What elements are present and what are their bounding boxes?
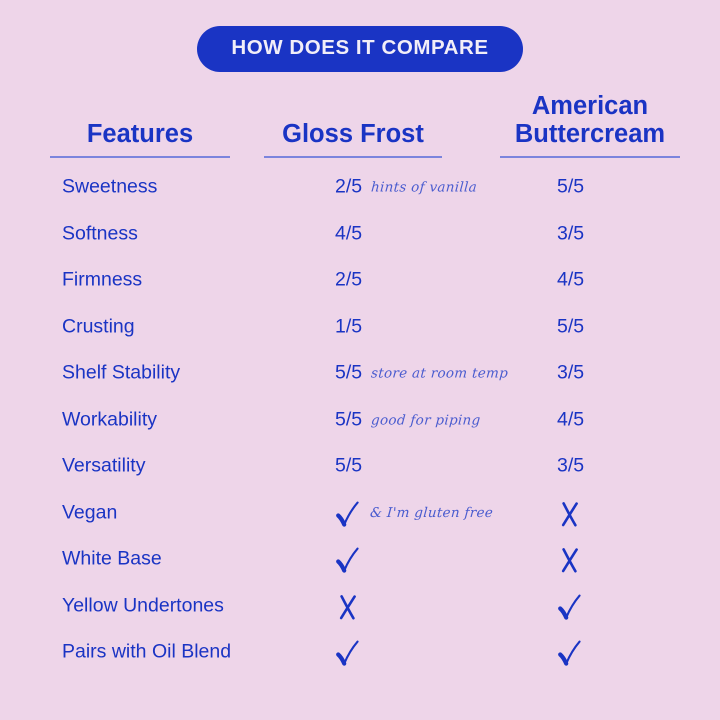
- american-buttercream-rating: 3/5: [557, 362, 584, 384]
- feature-label: Crusting: [62, 317, 135, 337]
- feature-label: Versatility: [62, 457, 145, 477]
- table-row: Crusting1/55/5: [0, 304, 720, 351]
- table-row: Shelf Stability5/5store at room temp3/5: [0, 350, 720, 397]
- gloss-frost-rating: 5/5: [335, 410, 362, 430]
- table-row: Firmness2/54/5: [0, 257, 720, 304]
- american-buttercream-value: [557, 544, 583, 574]
- gloss-frost-value: 5/5: [335, 457, 362, 477]
- column-header-line-2: Buttercream: [515, 120, 665, 148]
- feature-label: Yellow Undertones: [62, 596, 224, 616]
- table-header-row: Features Gloss Frost American Buttercrea…: [0, 78, 720, 158]
- american-buttercream-value: 5/5: [557, 178, 584, 198]
- gloss-frost-rating: 5/5: [335, 457, 362, 477]
- american-buttercream-rating: 4/5: [557, 269, 584, 291]
- table-row: Workability5/5good for piping4/5: [0, 397, 720, 444]
- feature-label: Softness: [62, 224, 138, 244]
- comparison-table: Features Gloss Frost American Buttercrea…: [0, 78, 720, 676]
- cross-icon: [557, 499, 583, 529]
- american-buttercream-rating: 5/5: [557, 315, 584, 337]
- table-body: Sweetness2/5hints of vanilla5/5Softness4…: [0, 164, 720, 676]
- gloss-frost-value: [335, 544, 361, 574]
- american-buttercream-value: 4/5: [557, 410, 584, 430]
- gloss-frost-rating: 4/5: [335, 224, 362, 244]
- cross-icon: [557, 545, 583, 575]
- american-buttercream-rating: 3/5: [557, 455, 584, 477]
- gloss-frost-value: 2/5hints of vanilla: [335, 178, 477, 198]
- feature-label: White Base: [62, 550, 162, 570]
- american-buttercream-rating: 5/5: [557, 176, 584, 198]
- column-header-gloss-frost: Gloss Frost: [264, 120, 442, 158]
- check-icon: [557, 638, 583, 668]
- table-row: Yellow Undertones: [0, 583, 720, 630]
- american-buttercream-rating: 4/5: [557, 408, 584, 430]
- check-icon: [335, 499, 361, 529]
- column-header-line-1: American: [532, 92, 648, 120]
- american-buttercream-value: [557, 498, 583, 528]
- table-row: Softness4/53/5: [0, 211, 720, 258]
- gloss-frost-rating: 5/5: [335, 364, 362, 384]
- gloss-frost-value: 1/5: [335, 317, 362, 337]
- gloss-frost-value: [335, 637, 361, 667]
- table-row: Sweetness2/5hints of vanilla5/5: [0, 164, 720, 211]
- column-header-features: Features: [50, 120, 230, 158]
- american-buttercream-value: 3/5: [557, 364, 584, 384]
- american-buttercream-rating: 3/5: [557, 222, 584, 244]
- gloss-frost-rating: 2/5: [335, 271, 362, 291]
- check-icon: [557, 592, 583, 622]
- gloss-frost-rating: 2/5: [335, 178, 362, 198]
- handwritten-note: hints of vanilla: [371, 182, 478, 196]
- check-icon: [335, 545, 361, 575]
- gloss-frost-rating: 1/5: [335, 317, 362, 337]
- gloss-frost-value: 4/5: [335, 224, 362, 244]
- american-buttercream-value: 4/5: [557, 271, 584, 291]
- table-row: Pairs with Oil Blend: [0, 629, 720, 676]
- table-row: Vegan& I'm gluten free: [0, 490, 720, 537]
- handwritten-note: store at room temp: [371, 368, 509, 382]
- american-buttercream-value: [557, 637, 583, 667]
- gloss-frost-value: [335, 591, 361, 621]
- cross-icon: [335, 592, 361, 622]
- column-header-american-buttercream: American Buttercream: [500, 92, 680, 158]
- table-row: White Base: [0, 536, 720, 583]
- title-banner: HOW DOES IT COMPARE: [0, 26, 720, 72]
- check-icon: [335, 638, 361, 668]
- handwritten-note: & I'm gluten free: [370, 507, 494, 521]
- handwritten-note: good for piping: [371, 414, 481, 428]
- gloss-frost-value: & I'm gluten free: [335, 498, 493, 528]
- comparison-infographic: HOW DOES IT COMPARE Features Gloss Frost…: [0, 0, 720, 720]
- feature-label: Workability: [62, 410, 157, 430]
- feature-label: Sweetness: [62, 178, 157, 198]
- gloss-frost-value: 5/5good for piping: [335, 410, 481, 430]
- title-pill: HOW DOES IT COMPARE: [197, 26, 522, 72]
- feature-label: Pairs with Oil Blend: [62, 643, 231, 663]
- american-buttercream-value: [557, 591, 583, 621]
- feature-label: Shelf Stability: [62, 364, 180, 384]
- american-buttercream-value: 3/5: [557, 457, 584, 477]
- american-buttercream-value: 3/5: [557, 224, 584, 244]
- american-buttercream-value: 5/5: [557, 317, 584, 337]
- gloss-frost-value: 5/5store at room temp: [335, 364, 508, 384]
- table-row: Versatility5/53/5: [0, 443, 720, 490]
- feature-label: Firmness: [62, 271, 142, 291]
- gloss-frost-value: 2/5: [335, 271, 362, 291]
- feature-label: Vegan: [62, 503, 117, 523]
